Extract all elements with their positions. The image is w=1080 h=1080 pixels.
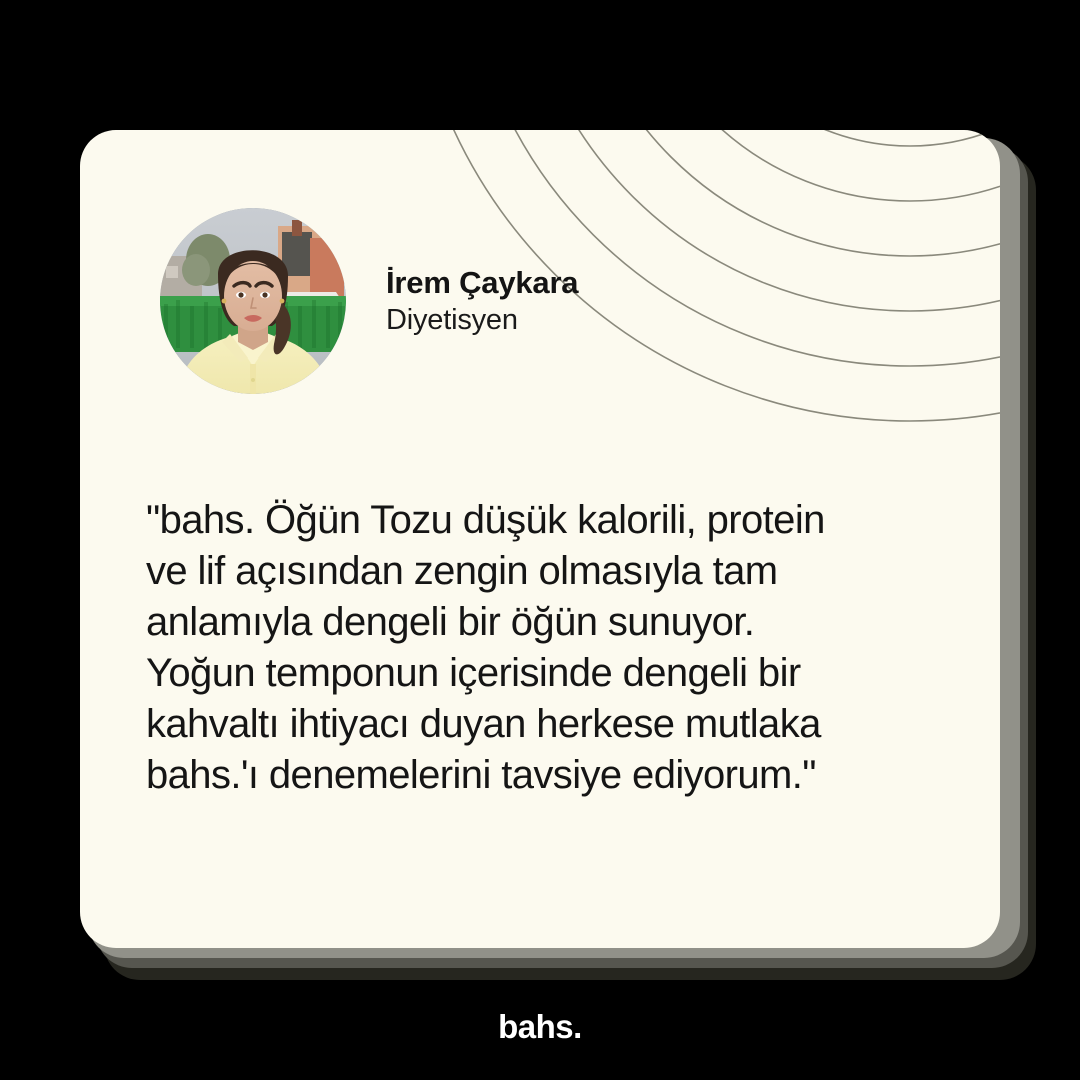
testimonial-card-screen: İrem Çaykara Diyetisyen "bahs. Öğün Tozu… (0, 0, 1080, 1080)
person-name: İrem Çaykara (386, 264, 578, 302)
testimonial-quote: "bahs. Öğün Tozu düşük kalorili, protein… (146, 495, 946, 801)
avatar (160, 208, 346, 394)
testimonial-card: İrem Çaykara Diyetisyen "bahs. Öğün Tozu… (80, 130, 1000, 948)
person-role: Diyetisyen (386, 302, 578, 338)
profile-header: İrem Çaykara Diyetisyen (160, 208, 578, 394)
brand-wordmark: bahs. (0, 1008, 1080, 1046)
identity-block: İrem Çaykara Diyetisyen (386, 264, 578, 338)
